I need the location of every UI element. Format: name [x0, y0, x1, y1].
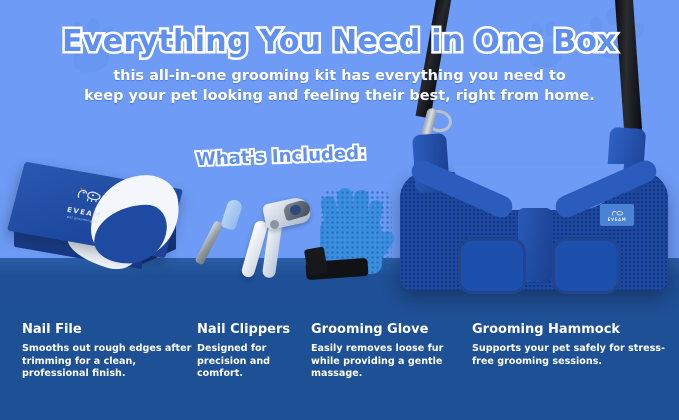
nail-file-shaft [195, 220, 224, 265]
caption-grooming-hammock: Grooming Hammock Supports your pet safel… [472, 322, 672, 368]
glove-wrist-strap [304, 246, 328, 275]
caption-description: Smooths out rough edges after trimming f… [22, 343, 197, 381]
caption-grooming-glove: Grooming Glove Easily removes loose fur … [311, 322, 459, 381]
hammock-brand-patch: EVEAM [600, 204, 634, 226]
subtitle-line-2: keep your pet looking and feeling their … [0, 86, 679, 106]
hammock-leg-hole-right [552, 238, 620, 294]
grooming-glove-image [300, 186, 406, 290]
hammock-body: EVEAM [400, 172, 668, 290]
caption-title: Nail Clippers [197, 322, 309, 338]
product-infographic: Everything You Need in One Box this all-… [0, 0, 679, 420]
caption-nail-file: Nail File Smooths out rough edges after … [22, 322, 197, 381]
product-caption-list: Nail File Smooths out rough edges after … [0, 322, 679, 420]
caption-title: Grooming Glove [311, 322, 459, 338]
subtitle-line-1: this all-in-one grooming kit has everyth… [0, 66, 679, 86]
page-title: Everything You Need in One Box [0, 24, 679, 59]
caption-description: Designed for precision and comfort. [197, 343, 309, 381]
cat-dog-logo-icon [610, 209, 624, 217]
caption-title: Grooming Hammock [472, 322, 672, 338]
nail-file-handle [220, 198, 244, 231]
caption-nail-clippers: Nail Clippers Designed for precision and… [197, 322, 309, 381]
caption-description: Supports your pet safely for stress-free… [472, 343, 672, 368]
caption-description: Easily removes loose fur while providing… [311, 343, 459, 381]
caption-title: Nail File [22, 322, 197, 338]
page-subtitle: this all-in-one grooming kit has everyth… [0, 66, 679, 106]
clipper-pivot-screw [270, 220, 279, 229]
hammock-leg-hole-left [458, 238, 526, 294]
product-box-image: EVEAM EVEAM pet grooming kit [8, 174, 188, 286]
hammock-patch-brand: EVEAM [608, 217, 627, 222]
